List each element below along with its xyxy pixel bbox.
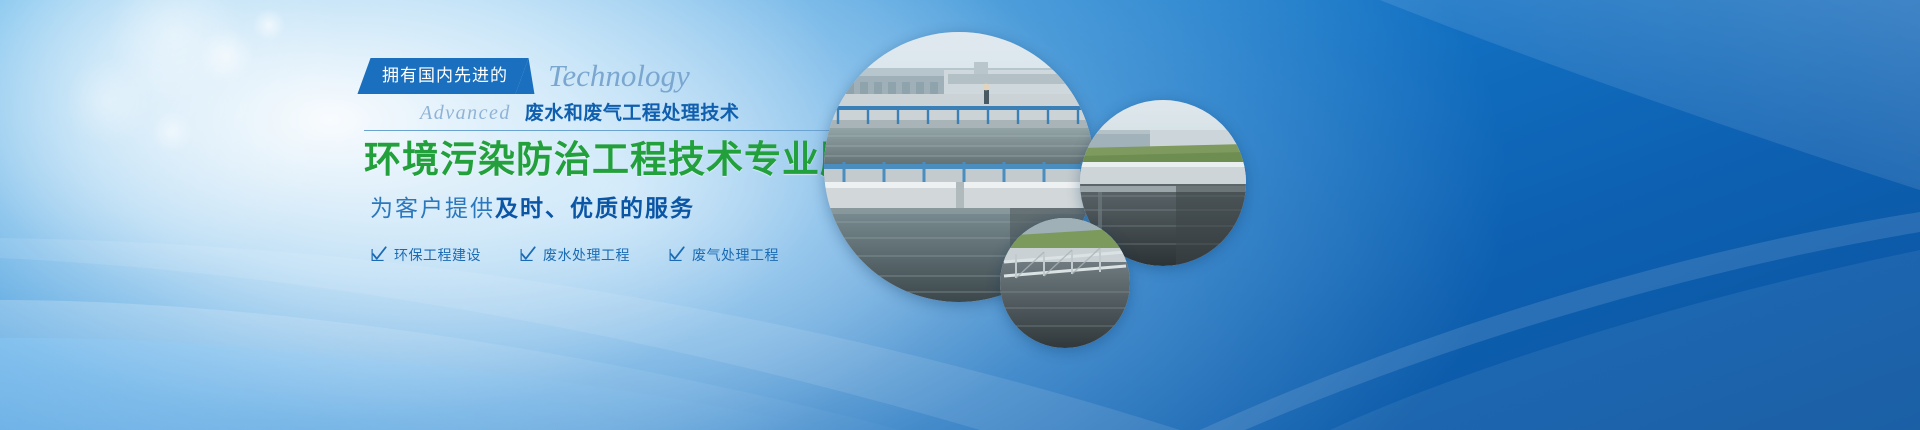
page-title: 环境污染防治工程技术专业顾问 [364,140,834,181]
glow-blob [150,110,194,154]
subline-emphasis: 及时、优质的服务 [495,195,695,221]
feature-label: 环保工程建设 [394,245,481,265]
glow-blob [196,26,256,86]
feature-label: 废气处理工程 [692,245,779,265]
technology-word: Technology [548,58,690,94]
glow-blob [100,0,250,110]
check-icon [370,246,387,263]
list-item[interactable]: 废气处理工程 [668,245,779,265]
feature-list: 环保工程建设 废水处理工程 废气处理工程 [364,245,834,265]
glow-blob [252,8,286,42]
advanced-subtitle: 废水和废气工程处理技术 [525,98,740,125]
photo-clarifier-basin [1000,218,1130,348]
check-icon [668,246,685,263]
hero-banner: 拥有国内先进的 Technology Advanced 废水和废气工程处理技术 … [0,0,1920,430]
tagline-text: 拥有国内先进的 [382,58,508,94]
advanced-word: Advanced [420,102,511,125]
glow-blob [0,0,360,290]
feature-label: 废水处理工程 [543,245,630,265]
check-icon [519,246,536,263]
list-item[interactable]: 环保工程建设 [370,245,481,265]
tagline-badge: 拥有国内先进的 [357,58,528,94]
banner-copy: 拥有国内先进的 Technology Advanced 废水和废气工程处理技术 … [364,58,834,265]
subline-prefix: 为客户提供 [370,195,495,221]
advanced-row: Advanced 废水和废气工程处理技术 [364,98,834,131]
banner-subline: 为客户提供及时、优质的服务 [364,189,834,223]
glow-blob [64,56,154,146]
list-item[interactable]: 废水处理工程 [519,245,630,265]
tagline-row: 拥有国内先进的 Technology [364,58,834,94]
